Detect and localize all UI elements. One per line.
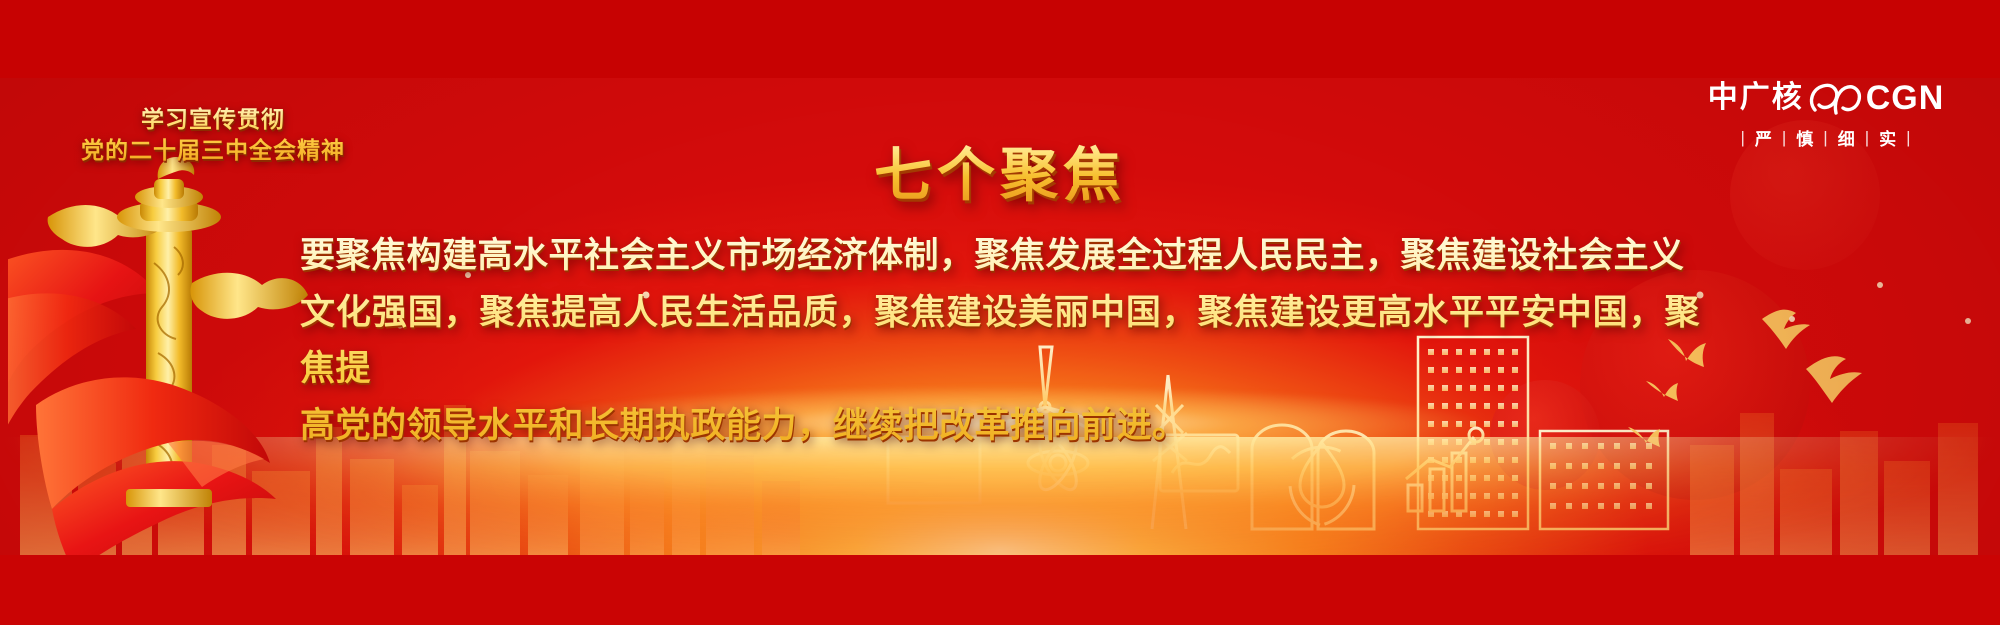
- huabiao-base: [126, 489, 212, 507]
- logo-wordmark: 中广核 CGN: [1696, 80, 1956, 116]
- cgn-swirl-emblem-icon: [1806, 80, 1864, 116]
- body-line-2: 文化强国，聚焦提高人民生活品质，聚焦建设美丽中国，聚焦建设更高水平平安中国，聚焦…: [300, 285, 1700, 398]
- logo-english-name: CGN: [1866, 81, 1945, 115]
- tagline-separator-3: |: [1865, 128, 1870, 148]
- tagline-separator-4: |: [1906, 128, 1911, 148]
- body-line-3: 高党的领导水平和长期执政能力，继续把改革推向前进。: [300, 398, 1700, 455]
- tagline-separator-2: |: [1823, 128, 1828, 148]
- frame-band-bottom: [0, 555, 2000, 625]
- body-paragraph: 要聚焦构建高水平社会主义市场经济体制，聚焦发展全过程人民民主，聚焦建设社会主义 …: [300, 228, 1700, 455]
- tagline-char-1: 慎: [1787, 125, 1823, 150]
- tagline-separator-0: |: [1740, 128, 1745, 148]
- logo-chinese-name: 中广核: [1708, 83, 1804, 113]
- tagline-separator-1: |: [1782, 128, 1787, 148]
- cgn-logo: 中广核 CGN | 严 | 慎 | 细 | 实 |: [1696, 80, 1956, 150]
- frame-band-top: [0, 0, 2000, 78]
- logo-tagline: | 严 | 慎 | 细 | 实 |: [1696, 125, 1956, 150]
- tagline-char-0: 严: [1746, 125, 1782, 150]
- body-line-1: 要聚焦构建高水平社会主义市场经济体制，聚焦发展全过程人民民主，聚焦建设社会主义: [300, 228, 1700, 285]
- propaganda-banner: 学习宣传贯彻 党的二十届三中全会精神 七个聚焦 要聚焦构建高水平社会主义市场经济…: [0, 0, 2000, 625]
- tagline-char-3: 实: [1870, 125, 1906, 150]
- cloud-wing-right: [190, 273, 308, 319]
- tagline-char-2: 细: [1829, 125, 1865, 150]
